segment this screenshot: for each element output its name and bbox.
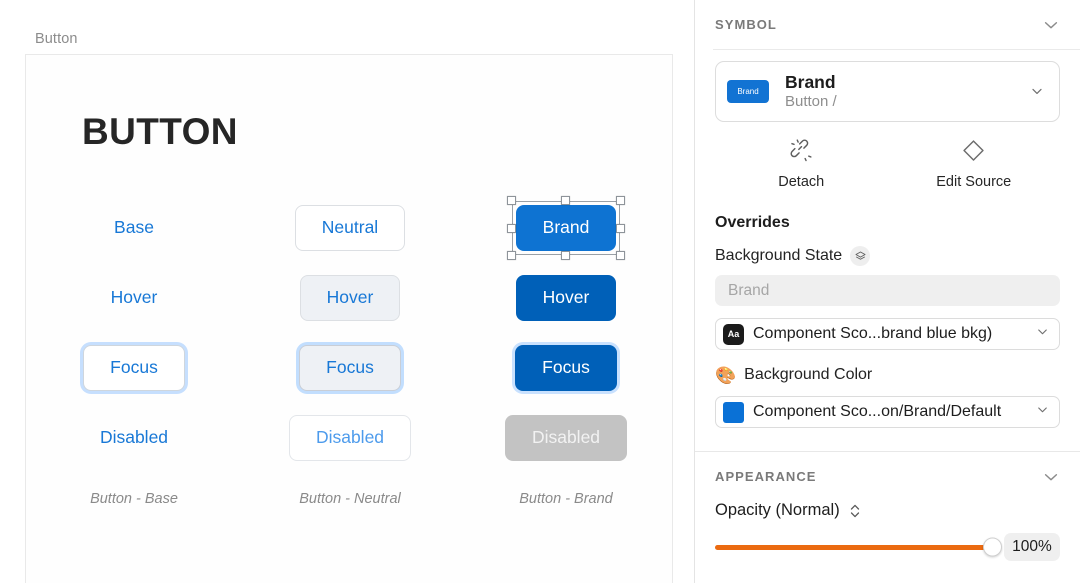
button-cell: Disabled <box>87 403 181 473</box>
resize-handle-w[interactable] <box>507 224 516 233</box>
opacity-slider-row: 100% <box>715 533 1060 561</box>
artboard-label[interactable]: Button <box>35 31 78 47</box>
layers-icon[interactable] <box>850 246 870 266</box>
button-wrapper: Disabled <box>289 415 411 461</box>
overrides-title: Overrides <box>715 214 1080 232</box>
opacity-slider[interactable] <box>715 545 993 550</box>
button-neutral-hover[interactable]: Hover <box>300 275 401 321</box>
button-cell: Hover <box>98 263 171 333</box>
resize-handle-s[interactable] <box>561 251 570 260</box>
button-neutral-disabled[interactable]: Disabled <box>289 415 411 461</box>
text-override-value: Component Sco...brand blue bkg) <box>753 325 1026 343</box>
resize-handle-e[interactable] <box>616 224 625 233</box>
edit-source-label: Edit Source <box>936 174 1011 190</box>
background-state-label: Background State <box>715 247 842 265</box>
button-base-hover[interactable]: Hover <box>98 278 171 318</box>
symbol-section-title: SYMBOL <box>715 17 777 32</box>
chevron-down-icon[interactable] <box>1035 402 1050 422</box>
appearance-section: APPEARANCE Opacity (Normal) <box>695 451 1080 583</box>
background-state-row: Background State <box>715 246 1060 266</box>
button-cell: Brand <box>516 193 617 263</box>
button-cell: Hover <box>516 263 617 333</box>
button-wrapper: Hover <box>98 278 171 318</box>
button-brand-hover[interactable]: Hover <box>516 275 617 321</box>
background-state-value-field[interactable]: Brand <box>715 275 1060 306</box>
background-color-value: Component Sco...on/Brand/Default <box>753 403 1026 421</box>
button-column-brand: BrandHoverFocusDisabledButton - Brand <box>458 193 674 507</box>
button-wrapper: Hover <box>300 275 401 321</box>
chevron-down-icon[interactable] <box>1042 16 1060 34</box>
diamond-symbol-icon <box>961 138 986 168</box>
button-neutral-focus[interactable]: Focus <box>299 345 401 391</box>
text-style-icon: Aa <box>723 324 744 345</box>
button-wrapper: Base <box>101 208 167 248</box>
button-wrapper: Focus <box>83 345 185 391</box>
button-neutral-neutral[interactable]: Neutral <box>295 205 405 251</box>
opacity-value-field[interactable]: 100% <box>1004 533 1060 561</box>
symbol-actions: Detach Edit Source <box>715 132 1060 194</box>
opacity-label-row: Opacity (Normal) <box>715 501 1060 520</box>
button-wrapper: Hover <box>516 275 617 321</box>
symbol-card-text: Brand Button / <box>785 72 1029 112</box>
button-cell: Base <box>101 193 167 263</box>
symbol-section-header[interactable]: SYMBOL <box>695 0 1080 49</box>
opacity-label: Opacity (Normal) <box>715 501 840 520</box>
background-state-value: Brand <box>728 282 769 300</box>
color-swatch <box>723 402 744 423</box>
button-wrapper: Disabled <box>505 415 627 461</box>
button-base-focus[interactable]: Focus <box>83 345 185 391</box>
column-caption: Button - Brand <box>519 491 613 507</box>
resize-handle-nw[interactable] <box>507 196 516 205</box>
column-caption: Button - Base <box>90 491 178 507</box>
button-cell: Focus <box>83 333 185 403</box>
chevron-down-icon[interactable] <box>1029 83 1047 101</box>
background-color-row: 🎨 Background Color <box>715 366 1060 384</box>
resize-handle-se[interactable] <box>616 251 625 260</box>
symbol-thumbnail: Brand <box>727 80 769 103</box>
button-cell: Focus <box>515 333 617 403</box>
app-root: Button BUTTON BaseHoverFocusDisabledButt… <box>0 0 1080 583</box>
background-color-label: Background Color <box>744 366 872 384</box>
palette-icon: 🎨 <box>715 367 736 384</box>
button-wrapper: Brand <box>516 205 617 251</box>
button-cell: Disabled <box>289 403 411 473</box>
button-brand-focus[interactable]: Focus <box>515 345 617 391</box>
opacity-value: 100% <box>1012 538 1052 556</box>
detach-button[interactable]: Detach <box>715 132 888 194</box>
button-base-base[interactable]: Base <box>101 208 167 248</box>
detach-link-icon <box>789 138 814 168</box>
appearance-section-title: APPEARANCE <box>715 469 817 484</box>
chevron-down-icon[interactable] <box>1035 324 1050 344</box>
button-wrapper: Disabled <box>87 418 181 458</box>
button-wrapper: Neutral <box>295 205 405 251</box>
button-column-base: BaseHoverFocusDisabledButton - Base <box>26 193 242 507</box>
symbol-name: Brand <box>785 72 1029 92</box>
column-caption: Button - Neutral <box>299 491 401 507</box>
artboard[interactable]: BUTTON BaseHoverFocusDisabledButton - Ba… <box>25 54 673 583</box>
symbol-path: Button / <box>785 93 1029 112</box>
button-column-neutral: NeutralHoverFocusDisabledButton - Neutra… <box>242 193 458 507</box>
symbol-master-card[interactable]: Brand Brand Button / <box>715 61 1060 122</box>
design-canvas[interactable]: Button BUTTON BaseHoverFocusDisabledButt… <box>0 0 694 583</box>
text-override-select[interactable]: Aa Component Sco...brand blue bkg) <box>715 318 1060 350</box>
detach-label: Detach <box>778 174 824 190</box>
button-wrapper: Focus <box>299 345 401 391</box>
slider-thumb[interactable] <box>983 538 1002 557</box>
button-columns: BaseHoverFocusDisabledButton - BaseNeutr… <box>26 193 674 507</box>
button-cell: Disabled <box>505 403 627 473</box>
stepper-icon[interactable] <box>849 502 861 520</box>
button-base-disabled[interactable]: Disabled <box>87 418 181 458</box>
button-brand-disabled[interactable]: Disabled <box>505 415 627 461</box>
resize-handle-n[interactable] <box>561 196 570 205</box>
inspector-panel: SYMBOL Brand Brand Button / <box>694 0 1080 583</box>
chevron-down-icon[interactable] <box>1042 468 1060 486</box>
artboard-heading: BUTTON <box>82 111 238 153</box>
edit-source-button[interactable]: Edit Source <box>888 132 1061 194</box>
background-color-select[interactable]: Component Sco...on/Brand/Default <box>715 396 1060 428</box>
button-cell: Neutral <box>295 193 405 263</box>
resize-handle-sw[interactable] <box>507 251 516 260</box>
resize-handle-ne[interactable] <box>616 196 625 205</box>
appearance-section-header[interactable]: APPEARANCE <box>695 452 1080 501</box>
button-cell: Focus <box>299 333 401 403</box>
button-brand-brand[interactable]: Brand <box>516 205 617 251</box>
button-cell: Hover <box>300 263 401 333</box>
button-wrapper: Focus <box>515 345 617 391</box>
